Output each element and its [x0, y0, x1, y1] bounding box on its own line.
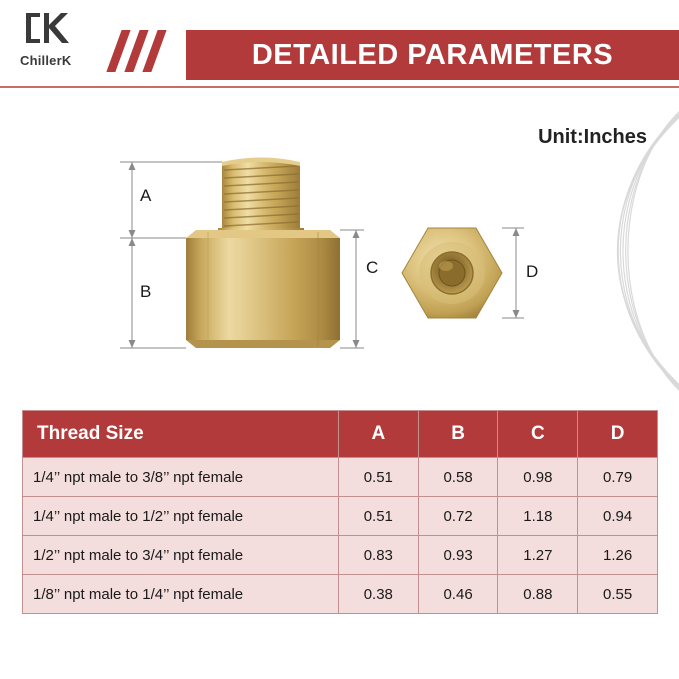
cell-d: 1.26 [578, 536, 658, 575]
column-d: D [578, 411, 658, 458]
dimension-label-a: A [140, 186, 151, 206]
cell-c: 1.27 [498, 536, 578, 575]
table-row: 1/4’’ npt male to 1/2’’ npt female 0.51 … [23, 497, 658, 536]
cell-a: 0.83 [338, 536, 418, 575]
column-a: A [338, 411, 418, 458]
title-banner: DETAILED PARAMETERS [186, 30, 679, 80]
cell-b: 0.72 [418, 497, 498, 536]
table-row: 1/4’’ npt male to 3/8’’ npt female 0.51 … [23, 458, 658, 497]
cell-c: 0.88 [498, 575, 578, 614]
cell-b: 0.93 [418, 536, 498, 575]
dimension-label-c: C [366, 258, 378, 278]
cell-thread-size: 1/4’’ npt male to 3/8’’ npt female [23, 458, 339, 497]
product-diagram: A B C D [0, 140, 679, 390]
cell-d: 0.94 [578, 497, 658, 536]
page-title: DETAILED PARAMETERS [252, 39, 613, 72]
table-row: 1/8’’ npt male to 1/4’’ npt female 0.38 … [23, 575, 658, 614]
accent-slashes [112, 30, 190, 72]
dimension-label-d: D [526, 262, 538, 282]
column-b: B [418, 411, 498, 458]
cell-d: 0.55 [578, 575, 658, 614]
table-row: 1/2’’ npt male to 3/4’’ npt female 0.83 … [23, 536, 658, 575]
cell-b: 0.46 [418, 575, 498, 614]
table-header-row: Thread Size A B C D [23, 411, 658, 458]
column-thread-size: Thread Size [23, 411, 339, 458]
cell-a: 0.38 [338, 575, 418, 614]
column-c: C [498, 411, 578, 458]
cell-thread-size: 1/8’’ npt male to 1/4’’ npt female [23, 575, 339, 614]
fitting-drawing-icon [0, 140, 679, 390]
cell-c: 0.98 [498, 458, 578, 497]
dimension-label-b: B [140, 282, 151, 302]
cell-a: 0.51 [338, 458, 418, 497]
cell-thread-size: 1/4’’ npt male to 1/2’’ npt female [23, 497, 339, 536]
page-header: ChillerK DETAILED PARAMETERS [0, 0, 679, 86]
cell-thread-size: 1/2’’ npt male to 3/4’’ npt female [23, 536, 339, 575]
header-divider [0, 86, 679, 88]
cell-a: 0.51 [338, 497, 418, 536]
parameters-table: Thread Size A B C D 1/4’’ npt male to 3/… [22, 410, 658, 614]
cell-d: 0.79 [578, 458, 658, 497]
cell-c: 1.18 [498, 497, 578, 536]
cell-b: 0.58 [418, 458, 498, 497]
